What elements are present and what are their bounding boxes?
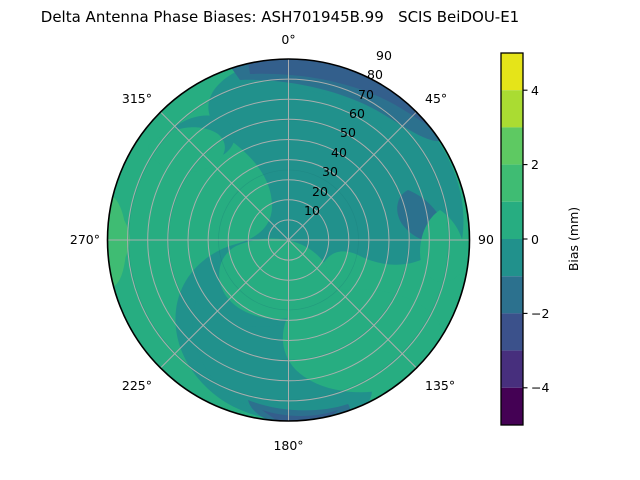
angular-tick-225: 225°	[122, 378, 152, 393]
radial-tick-70: 70	[358, 87, 374, 102]
colorbar-band-3-to-4	[501, 90, 523, 127]
angular-tick-180: 180°	[273, 438, 303, 453]
polar-grid	[108, 59, 470, 421]
colorbar-band-4-to-5	[501, 53, 523, 90]
radial-tick-30: 30	[322, 164, 338, 179]
radial-tick-50: 50	[340, 125, 356, 140]
angular-tick-90: 90	[478, 232, 494, 247]
colorbar-bands	[501, 53, 523, 425]
angular-tick-315: 315°	[122, 91, 152, 106]
angular-tick-45: 45°	[425, 91, 447, 106]
colorbar-tick-label-2: 2	[531, 157, 539, 172]
colorbar-band-minus3-to-minus2	[501, 313, 523, 350]
radial-tick-20: 20	[312, 184, 328, 199]
radial-tick-60: 60	[349, 106, 365, 121]
colorbar-tick-label-minus4: −4	[531, 380, 549, 395]
colorbar-axis-label: Bias (mm)	[566, 207, 581, 271]
colorbar-band-1-to-2	[501, 165, 523, 202]
figure-canvas: Delta Antenna Phase Biases: ASH701945B.9…	[0, 0, 640, 480]
radial-tick-40: 40	[331, 145, 347, 160]
angular-tick-0: 0°	[281, 32, 295, 47]
angular-tick-270: 270°	[70, 232, 100, 247]
colorbar-tick-label-0: 0	[531, 232, 539, 247]
colorbar-tick-label-minus2: −2	[531, 306, 549, 321]
radial-tick-90: 90	[376, 48, 392, 63]
polar-plot-area: 0° 45° 90 135° 180° 225° 270° 315° 10 20…	[0, 0, 640, 480]
colorbar-band-minus1-to-0	[501, 239, 523, 276]
colorbar-band-minus2-to-minus1	[501, 276, 523, 313]
colorbar-band-2-to-3	[501, 127, 523, 164]
colorbar-ticks	[523, 90, 528, 388]
colorbar-tick-label-4: 4	[531, 83, 539, 98]
colorbar-band-minus5-to-minus4	[501, 388, 523, 425]
radial-tick-10: 10	[304, 203, 320, 218]
radial-tick-80: 80	[367, 67, 383, 82]
colorbar-band-minus4-to-minus3	[501, 351, 523, 388]
colorbar[interactable]: 4 2 0 −2 −4 Bias (mm)	[501, 53, 581, 425]
colorbar-band-0-to-1	[501, 202, 523, 239]
polar-chart-svg: 0° 45° 90 135° 180° 225° 270° 315° 10 20…	[0, 0, 640, 480]
angular-tick-135: 135°	[425, 378, 455, 393]
